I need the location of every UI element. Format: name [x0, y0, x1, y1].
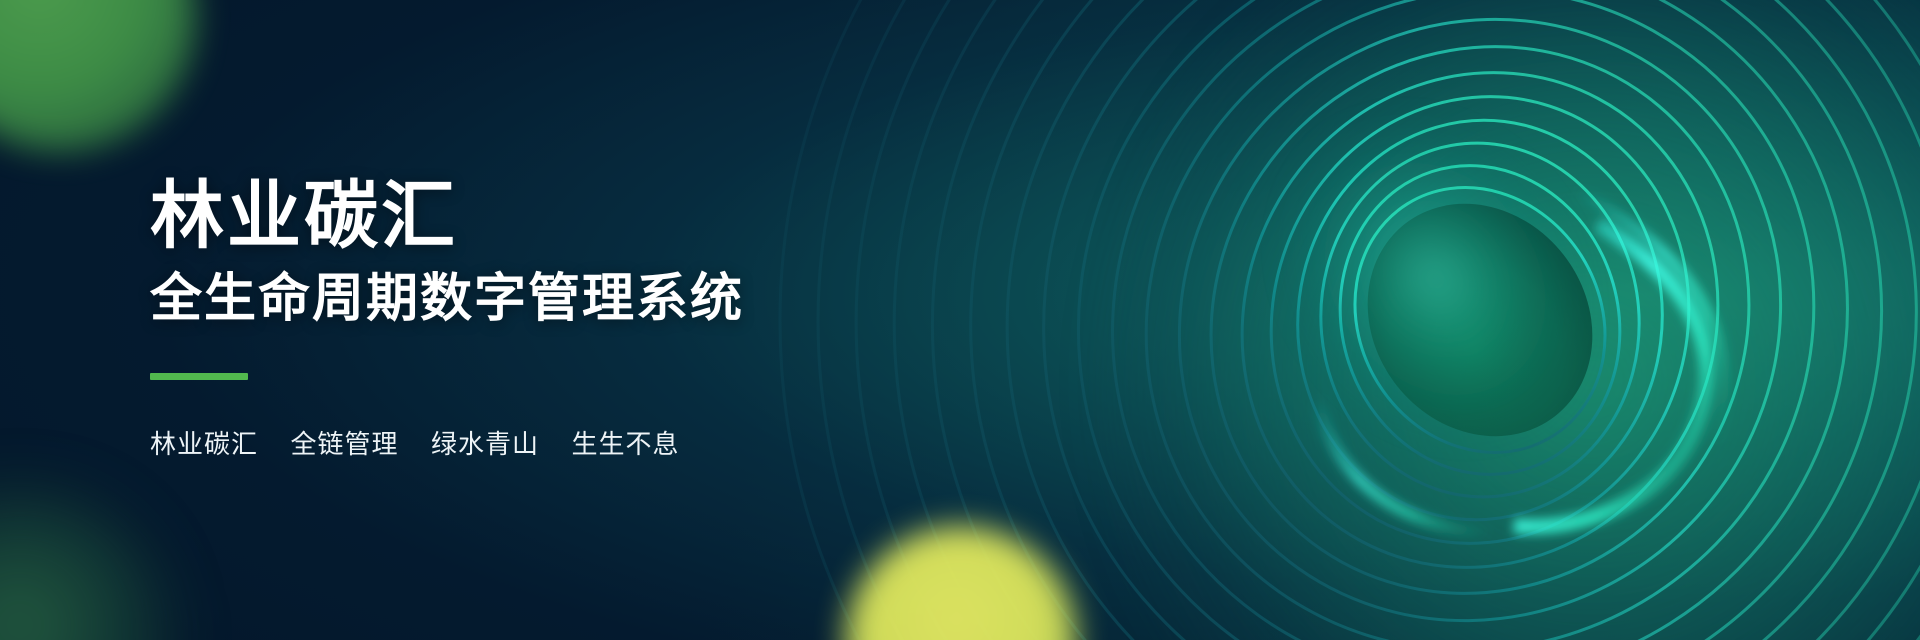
- page-subtitle: 全生命周期数字管理系统: [150, 273, 744, 325]
- hero-content: 林业碳汇 全生命周期数字管理系统 林业碳汇 全链管理 绿水青山 生生不息: [150, 0, 744, 640]
- tagline-part-2: 全链管理: [290, 429, 398, 459]
- page-title: 林业碳汇: [150, 179, 744, 253]
- green-accent-rule: [150, 373, 248, 380]
- tagline-part-4: 生生不息: [571, 429, 679, 459]
- tagline: 林业碳汇 全链管理 绿水青山 生生不息: [150, 424, 744, 461]
- hero-banner: 林业碳汇 全生命周期数字管理系统 林业碳汇 全链管理 绿水青山 生生不息: [0, 0, 1920, 640]
- tagline-part-1: 林业碳汇: [150, 429, 258, 459]
- tagline-part-3: 绿水青山: [431, 429, 539, 459]
- right-green-glow: [1100, 0, 1920, 640]
